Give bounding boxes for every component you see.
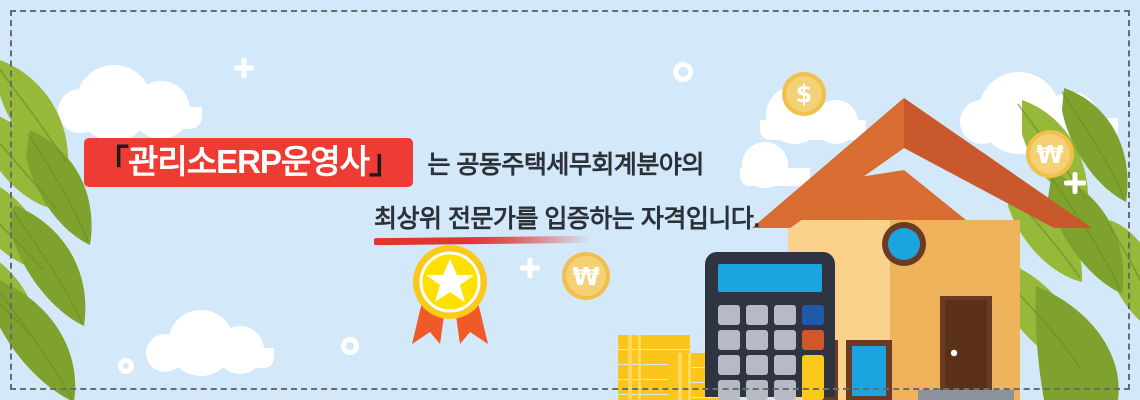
calculator-key	[774, 380, 796, 400]
house-steps-lower	[918, 390, 1014, 400]
ring-decor-bottom	[341, 337, 359, 355]
ring-decor-top	[673, 62, 693, 82]
calculator-key	[718, 380, 740, 400]
bracket-open: 「	[96, 143, 128, 180]
bracket-close: 」	[369, 143, 401, 180]
cloud-bottom-left	[152, 348, 274, 368]
headline-line-2-text: 최상위 전문가를 입증하는 자격입니다.	[374, 205, 760, 233]
brand-tag: 「관리소ERP운영사」	[84, 138, 413, 187]
dollar-coin: $	[782, 72, 826, 116]
calculator-key	[746, 305, 768, 325]
calculator-screen	[718, 264, 822, 292]
brand-tag-text: 관리소ERP운영사	[128, 143, 369, 180]
sparkle-top-left	[234, 58, 254, 78]
headline-line-2: 최상위 전문가를 입증하는 자격입니다.	[374, 199, 760, 235]
promo-banner: $ ₩ ₩ 「관리소ERP운영사」 는 공동주택세무회계분야의 최상위 전	[0, 0, 1140, 400]
headline-block: 「관리소ERP운영사」 는 공동주택세무회계분야의 최상위 전문가를 입증하는 …	[84, 138, 760, 235]
headline-line-1: 「관리소ERP운영사」 는 공동주택세무회계분야의	[84, 138, 760, 187]
calculator-key	[746, 330, 768, 350]
won-coin-right: ₩	[1026, 130, 1074, 178]
brush-underline	[374, 236, 592, 245]
calculator-key	[718, 355, 740, 375]
calculator-key	[746, 380, 768, 400]
calculator-key-orange	[802, 330, 824, 350]
calculator-key-blue	[802, 305, 824, 325]
calculator-key	[718, 305, 740, 325]
calculator	[705, 252, 835, 400]
sparkle-right	[1064, 172, 1086, 194]
calculator-key	[774, 330, 796, 350]
calculator-key	[718, 330, 740, 350]
ring-decor-left	[118, 358, 134, 374]
headline-line-1-rest: 는 공동주택세무회계분야의	[427, 145, 703, 181]
award-medal	[400, 232, 500, 350]
won-coin-center: ₩	[562, 252, 610, 300]
calculator-key	[746, 355, 768, 375]
calculator-key	[774, 355, 796, 375]
calculator-key-equals	[802, 355, 824, 400]
sparkle-center	[520, 258, 540, 278]
calculator-key	[774, 305, 796, 325]
